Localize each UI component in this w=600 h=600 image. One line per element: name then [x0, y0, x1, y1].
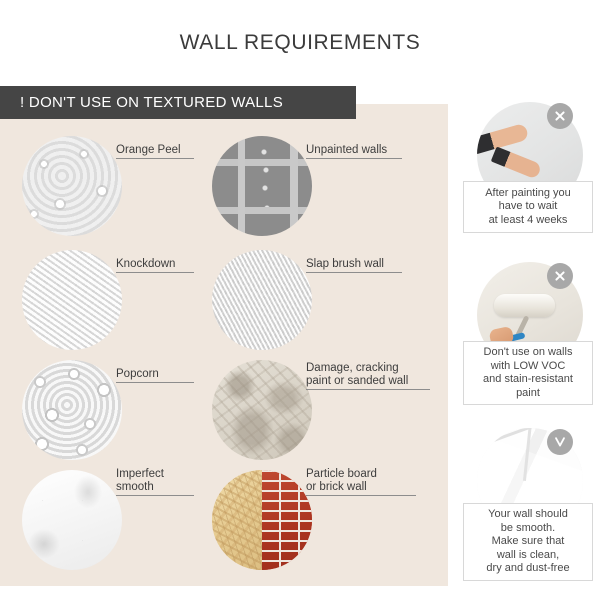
card-low-voc-caption: Don't use on walls with LOW VOC and stai… — [463, 341, 593, 405]
imperfect-smooth-label-text: Imperfect smooth — [116, 468, 194, 493]
unpainted-walls-label-rule — [306, 158, 402, 159]
slap-brush-wall-label-rule — [306, 272, 402, 273]
particle-board-brick-label: Particle board or brick wall — [306, 466, 416, 496]
popcorn-label-rule — [116, 382, 194, 383]
unpainted-walls-label-text: Unpainted walls — [306, 144, 402, 157]
imperfect-smooth-label-rule — [116, 495, 194, 496]
knockdown-swatch — [22, 250, 122, 350]
slap-brush-wall-label-text: Slap brush wall — [306, 258, 402, 271]
damage-cracking-label-rule — [306, 389, 430, 390]
card-smooth-wall-caption: Your wall should be smooth. Make sure th… — [463, 503, 593, 581]
orange-peel-label-rule — [116, 158, 194, 159]
orange-peel-label: Orange Peel — [116, 141, 194, 159]
page-title: WALL REQUIREMENTS — [0, 31, 600, 55]
check-badge — [547, 429, 573, 455]
card-low-voc-caption-text: Don't use on walls with LOW VOC and stai… — [483, 346, 573, 400]
infographic-root: WALL REQUIREMENTS ! DON'T USE ON TEXTURE… — [0, 0, 600, 600]
particle-board-brick-swatch — [212, 470, 312, 570]
slap-brush-wall-label: Slap brush wall — [306, 255, 402, 273]
knockdown-label: Knockdown — [116, 255, 194, 273]
particle-board-brick-label-rule — [306, 495, 416, 496]
imperfect-smooth-label: Imperfect smooth — [116, 466, 194, 496]
knockdown-label-text: Knockdown — [116, 258, 194, 271]
popcorn-label: Popcorn — [116, 365, 194, 383]
orange-peel-swatch — [22, 136, 122, 236]
card-smooth-wall-caption-text: Your wall should be smooth. Make sure th… — [486, 508, 569, 576]
popcorn-label-text: Popcorn — [116, 368, 194, 381]
damage-cracking-swatch — [212, 360, 312, 460]
x-badge — [547, 263, 573, 289]
x-badge — [547, 103, 573, 129]
particle-board-brick-label-text: Particle board or brick wall — [306, 468, 416, 493]
orange-peel-label-text: Orange Peel — [116, 144, 194, 157]
imperfect-smooth-swatch — [22, 470, 122, 570]
card-wait-4-weeks-caption-text: After painting you have to wait at least… — [485, 187, 571, 228]
unpainted-walls-label: Unpainted walls — [306, 141, 402, 159]
dont-use-banner-label: ! DON'T USE ON TEXTURED WALLS — [0, 94, 283, 111]
popcorn-swatch — [22, 360, 122, 460]
damage-cracking-label: Damage, cracking paint or sanded wall — [306, 360, 430, 390]
brick-half — [262, 470, 312, 570]
osb-half — [212, 470, 262, 570]
unpainted-walls-swatch — [212, 136, 312, 236]
damage-cracking-label-text: Damage, cracking paint or sanded wall — [306, 362, 430, 387]
knockdown-label-rule — [116, 272, 194, 273]
dont-use-banner: ! DON'T USE ON TEXTURED WALLS — [0, 86, 356, 119]
slap-brush-wall-swatch — [212, 250, 312, 350]
card-wait-4-weeks-caption: After painting you have to wait at least… — [463, 181, 593, 233]
